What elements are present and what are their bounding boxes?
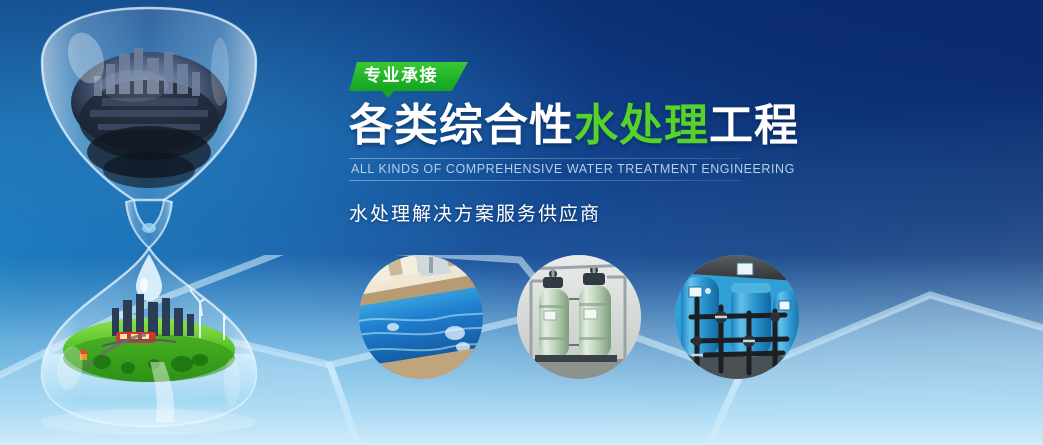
photo-swimming-pool-image [359,255,483,379]
hourglass-icon [24,2,274,445]
badge-wrapper: 专业承接 [349,62,468,91]
headline-part-3: 工程 [709,101,799,150]
badge-professional-undertaking: 专业承接 [349,62,468,91]
page-title: 各类综合性水处理工程 [349,101,769,151]
divider-bottom [349,180,741,181]
photo-blue-equipment [668,248,806,386]
headline-part-1: 各类综合性 [349,101,574,150]
water-treatment-banner: 专业承接 各类综合性水处理工程 ALL KINDS OF COMPREHENSI… [0,0,1043,445]
photo-filtration-tanks-image [517,255,641,379]
photo-filtration-tanks [510,248,648,386]
headline-part-2: 水处理 [574,101,709,150]
english-subtitle-block: ALL KINDS OF COMPREHENSIVE WATER TREATME… [349,158,741,181]
photo-swimming-pool [352,248,490,386]
photo-circle-group [352,248,822,398]
chinese-subtitle: 水处理解决方案服务供应商 [349,199,769,226]
badge-tail-icon [381,90,395,98]
headline-block: 专业承接 各类综合性水处理工程 ALL KINDS OF COMPREHENSI… [349,62,769,226]
english-subtitle: ALL KINDS OF COMPREHENSIVE WATER TREATME… [349,159,741,180]
photo-blue-equipment-image [675,255,799,379]
